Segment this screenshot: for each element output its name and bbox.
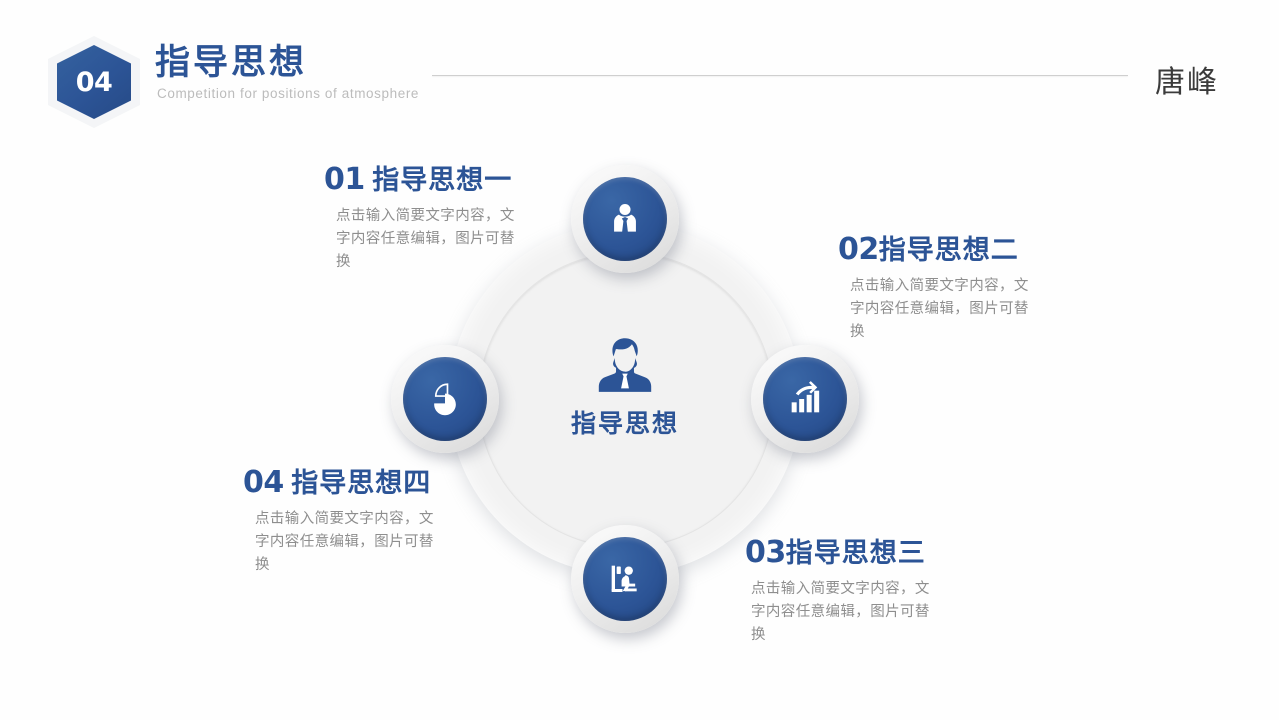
- info-block-04-heading: 04 指导思想四: [243, 466, 435, 501]
- info-block-01: 01 指导思想一 点击输入简要文字内容，文字内容任意编辑，图片可替换: [324, 163, 516, 275]
- node-core-right: [763, 357, 847, 441]
- info-block-02-body: 点击输入简要文字内容，文字内容任意编辑，图片可替换: [850, 275, 1030, 345]
- user-tie-icon: [606, 200, 644, 238]
- bar-chart-growth-icon: [785, 379, 825, 419]
- info-block-02-heading: 02指导思想二: [838, 233, 1030, 268]
- diagram-node-top[interactable]: [571, 165, 679, 273]
- info-block-02: 02指导思想二 点击输入简要文字内容，文字内容任意编辑，图片可替换: [838, 233, 1030, 345]
- info-block-03-title: 指导思想三: [786, 538, 926, 568]
- info-block-01-body: 点击输入简要文字内容，文字内容任意编辑，图片可替换: [336, 205, 516, 275]
- circular-diagram: 指导思想: [0, 0, 1279, 720]
- diagram-node-bottom[interactable]: [571, 525, 679, 633]
- info-block-02-number: 02: [838, 232, 879, 267]
- info-block-01-number: 01: [324, 162, 365, 197]
- node-core-top: [583, 177, 667, 261]
- info-block-03-heading: 03指导思想三: [745, 536, 931, 571]
- info-block-03-number: 03: [745, 535, 786, 570]
- info-block-04-number: 04: [243, 465, 284, 500]
- info-block-04-body: 点击输入简要文字内容，文字内容任意编辑，图片可替换: [255, 508, 435, 578]
- diagram-node-left[interactable]: [391, 345, 499, 453]
- info-block-03: 03指导思想三 点击输入简要文字内容，文字内容任意编辑，图片可替换: [745, 536, 931, 648]
- diagram-center: 指导思想: [525, 330, 725, 440]
- businessman-icon: [525, 330, 725, 400]
- diagram-center-label: 指导思想: [525, 404, 725, 440]
- diagram-node-right[interactable]: [751, 345, 859, 453]
- pie-chart-icon: [425, 379, 465, 419]
- info-block-04: 04 指导思想四 点击输入简要文字内容，文字内容任意编辑，图片可替换: [243, 466, 435, 578]
- node-core-bottom: [583, 537, 667, 621]
- person-presenting-icon: [605, 559, 645, 599]
- info-block-01-title: 指导思想一: [372, 165, 512, 195]
- info-block-02-title: 指导思想二: [879, 235, 1019, 265]
- info-block-01-heading: 01 指导思想一: [324, 163, 516, 198]
- node-core-left: [403, 357, 487, 441]
- info-block-03-body: 点击输入简要文字内容，文字内容任意编辑，图片可替换: [751, 578, 931, 648]
- info-block-04-title: 指导思想四: [291, 468, 431, 498]
